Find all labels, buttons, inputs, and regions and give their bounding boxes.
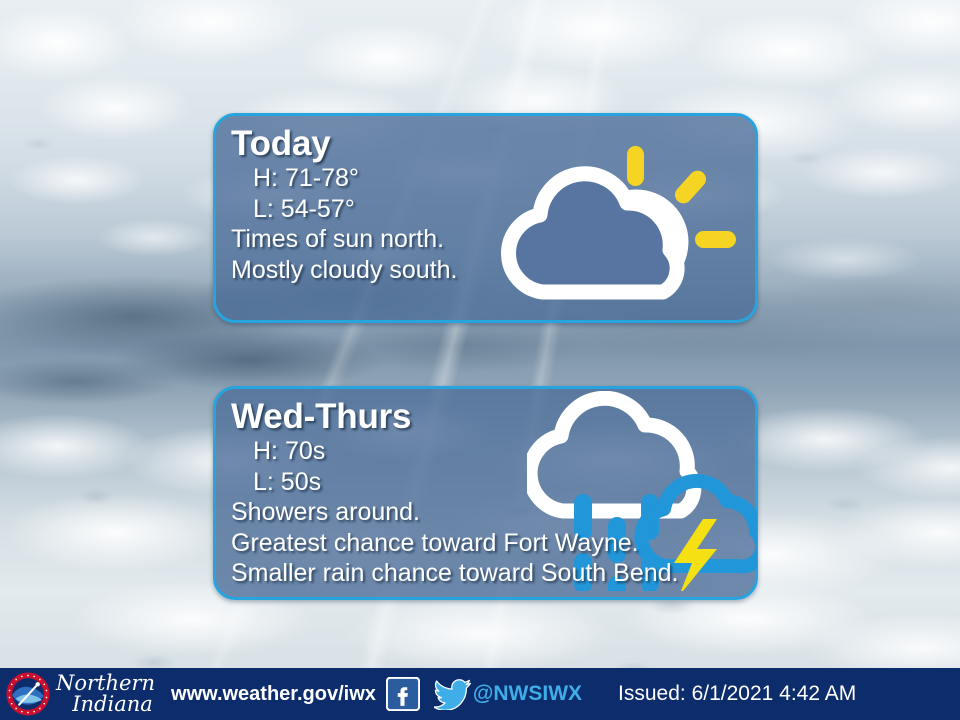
facebook-icon[interactable] <box>386 677 420 711</box>
background-shadowed-clouds <box>0 0 960 720</box>
issued-timestamp: Issued: 6/1/2021 4:42 AM <box>618 682 856 706</box>
panel-detail-line: Mostly cloudy south. <box>231 255 458 286</box>
panel-detail-line: Times of sun north. <box>231 224 458 255</box>
website-url[interactable]: www.weather.gov/iwx <box>171 683 376 706</box>
office-name-line1: Northern <box>56 673 155 694</box>
panel-high-wed-thurs: H: 70s <box>231 436 678 467</box>
background-sky <box>0 0 960 720</box>
panel-detail-line: Showers around. <box>231 497 678 528</box>
nws-logo-icon <box>6 672 50 716</box>
panel-title-wed-thurs: Wed-Thurs <box>231 399 678 434</box>
twitter-handle[interactable]: @NWSIWX <box>473 682 582 706</box>
forecast-panel-today: Today H: 71-78° L: 54-57° Times of sun n… <box>213 113 758 323</box>
forecast-panel-wed-thurs: Wed-Thurs H: 70s L: 50s Showers around. … <box>213 386 758 600</box>
background-cloud-texture <box>0 0 960 720</box>
background-cloud-streaks <box>0 0 960 720</box>
panel-detail-line: Greatest chance toward Fort Wayne. <box>231 528 678 559</box>
panel-low-today: L: 54-57° <box>231 194 458 225</box>
office-name: Northern Indiana <box>56 673 155 716</box>
panel-low-wed-thurs: L: 50s <box>231 467 678 498</box>
background-cloud-deck-low <box>0 0 960 720</box>
weather-forecast-graphic: Today H: 71-78° L: 54-57° Times of sun n… <box>0 0 960 720</box>
panel-high-today: H: 71-78° <box>231 163 458 194</box>
panel-title-today: Today <box>231 126 458 161</box>
background-cloud-deck-top <box>0 0 960 720</box>
background-cloud-deck-mid <box>0 0 960 720</box>
twitter-icon[interactable] <box>434 678 472 710</box>
forecast-text-wed-thurs: Wed-Thurs H: 70s L: 50s Showers around. … <box>231 399 678 589</box>
sun-behind-cloud-icon <box>499 124 749 319</box>
footer-bar: Northern Indiana www.weather.gov/iwx @NW… <box>0 668 960 720</box>
office-name-line2: Indiana <box>56 694 155 715</box>
forecast-text-today: Today H: 71-78° L: 54-57° Times of sun n… <box>231 126 458 285</box>
panel-detail-line: Smaller rain chance toward South Bend. <box>231 558 678 589</box>
